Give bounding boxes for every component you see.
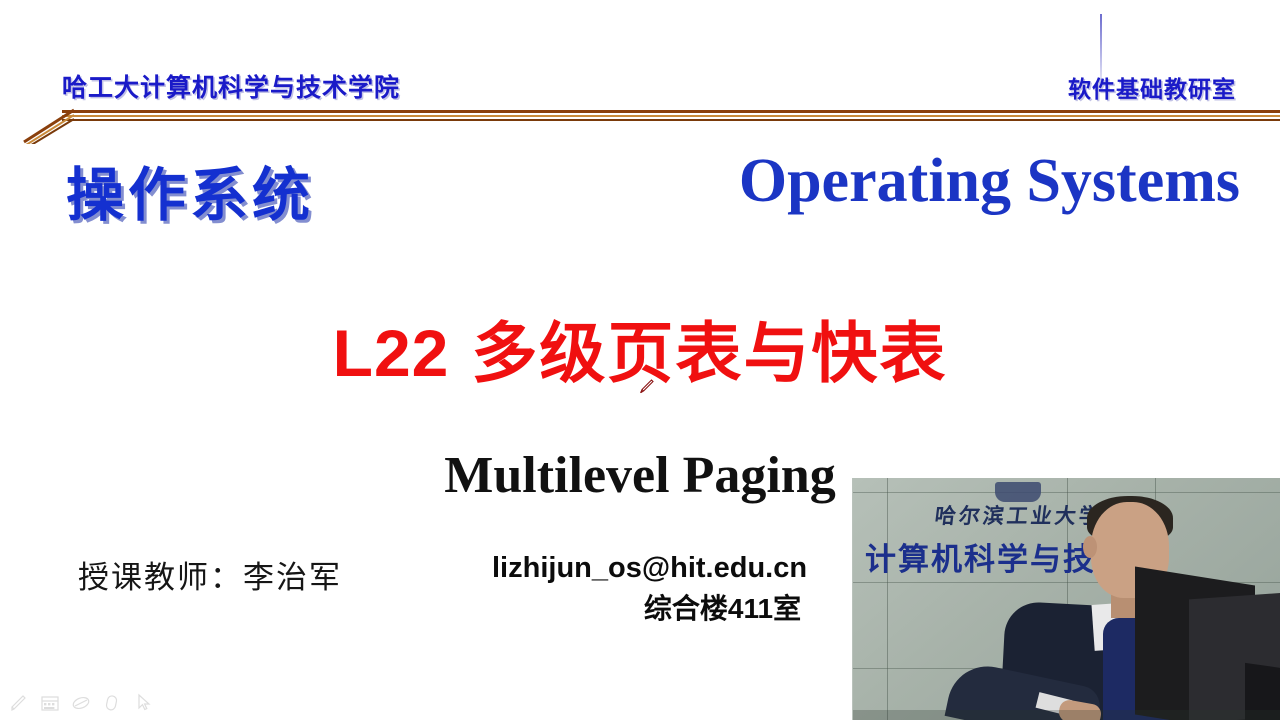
highlighter-icon[interactable]	[70, 692, 92, 714]
header-right-title: 软件基础教研室	[1068, 70, 1236, 104]
eraser-icon[interactable]	[101, 692, 123, 714]
instructor-name: 授课教师：李治军	[78, 552, 342, 597]
lesson-code: L22	[333, 316, 450, 390]
wall-text-university: 哈尔滨工业大学	[933, 500, 1105, 530]
divider-diagonal-tail	[20, 106, 76, 144]
wall-panel-seam	[853, 492, 1280, 493]
header-vertical-line-artifact	[1100, 14, 1102, 80]
university-emblem	[995, 482, 1041, 502]
course-title-chinese: 操作系统	[66, 148, 314, 232]
lecturer-video-overlay[interactable]: 哈尔滨工业大学 计算机科学与技术	[852, 478, 1280, 720]
header-left-title: 哈工大计算机科学与技术学院	[62, 68, 400, 104]
lecturer-ear	[1083, 536, 1097, 558]
slide-root: 哈工大计算机科学与技术学院 软件基础教研室 操作系统 Operating Sys…	[0, 0, 1280, 720]
header-divider	[0, 104, 1280, 146]
instructor-room: 综合楼411室	[492, 587, 807, 627]
wall-panel-seam	[887, 478, 888, 720]
lesson-title-chinese: 多级页表与快表	[471, 316, 947, 390]
divider-line-middle	[62, 115, 1280, 117]
course-title-english: Operating Systems	[739, 146, 1240, 217]
contact-block: lizhijun_os@hit.edu.cn 综合楼411室	[492, 552, 807, 627]
instructor-email: lizhijun_os@hit.edu.cn	[492, 552, 807, 585]
pen-icon[interactable]	[8, 692, 30, 714]
desk-edge	[853, 710, 1280, 720]
divider-line-inner	[62, 119, 1280, 121]
divider-line-outer	[62, 110, 1280, 113]
pen-cursor-icon	[638, 377, 656, 395]
annotation-toolbar[interactable]	[8, 692, 154, 714]
pointer-icon[interactable]	[132, 692, 154, 714]
keyboard-icon[interactable]	[39, 692, 61, 714]
